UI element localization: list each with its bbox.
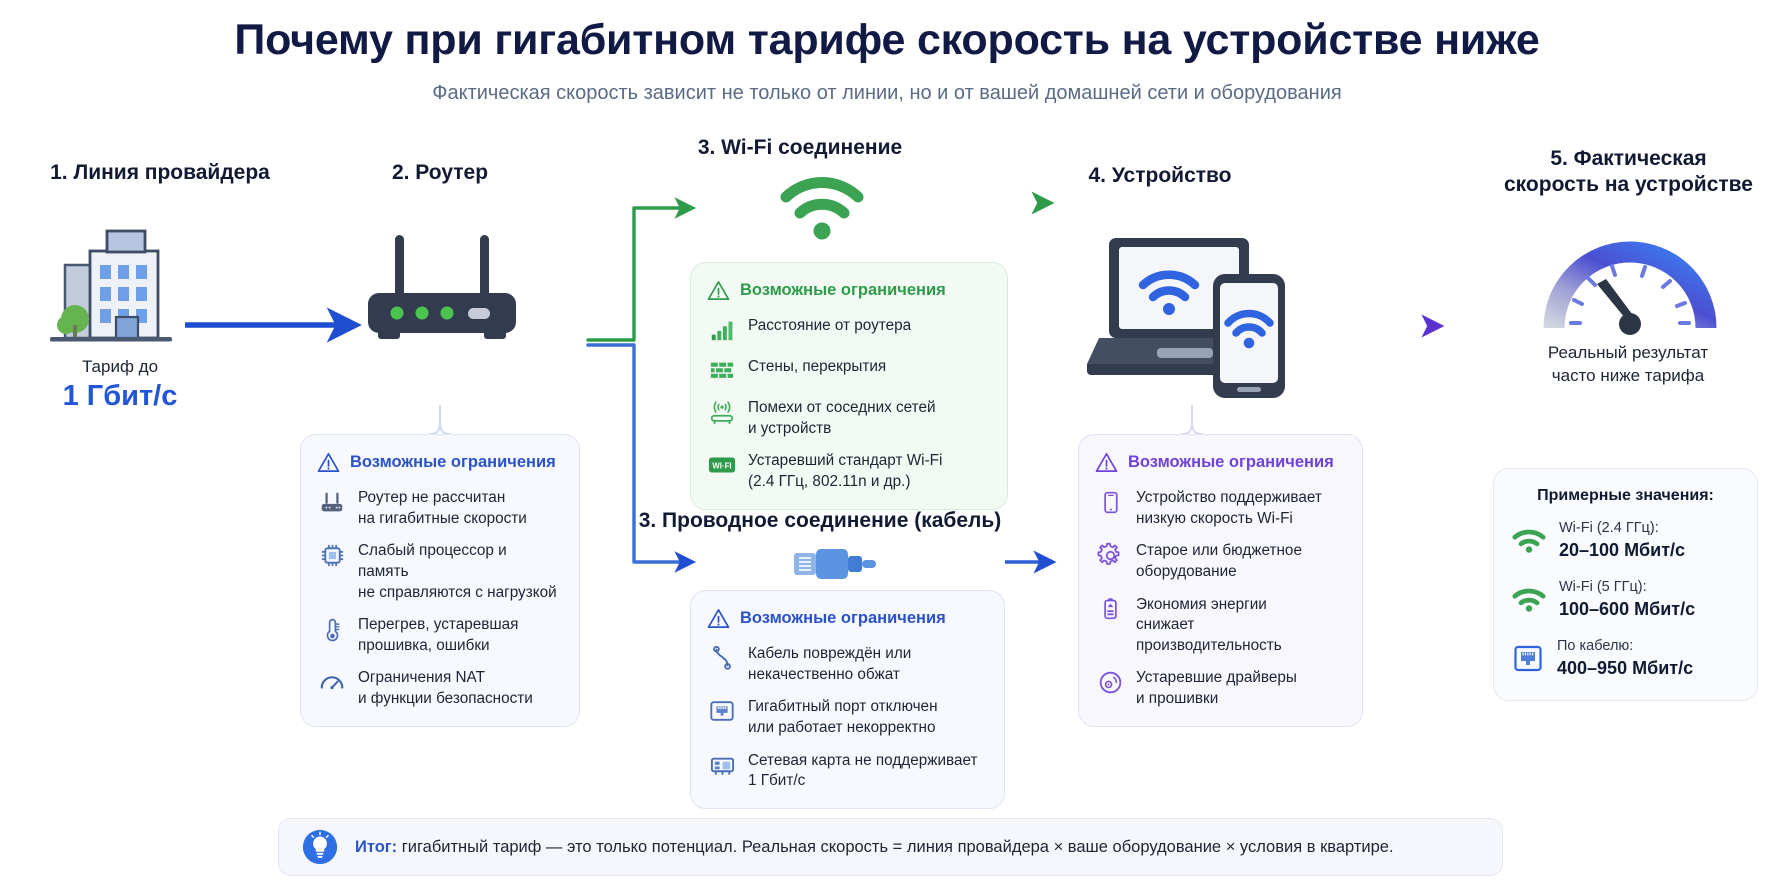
- cable-icon: [707, 643, 737, 673]
- page-title: Почему при гигабитном тарифе скорость на…: [0, 16, 1774, 65]
- card-title-text: Возможные ограничения: [1128, 453, 1334, 472]
- tariff-value: 1 Гбит/с: [20, 380, 220, 413]
- estimate-label: Wi-Fi (2.4 ГГц):: [1559, 520, 1659, 536]
- limitation-item: Расстояние от роутера: [707, 315, 989, 345]
- cable-limitations-card: Возможные ограничения Кабель повреждён и…: [690, 590, 1005, 809]
- limitation-text: Устаревший стандарт Wi-Fi (2.4 ГГц, 802.…: [748, 450, 942, 492]
- tariff-caption: Тариф до: [20, 356, 220, 379]
- network-card-icon: [707, 750, 737, 780]
- limitation-text: Устройство поддерживает низкую скорость …: [1136, 487, 1322, 529]
- limitation-text: Старое или бюджетное оборудование: [1136, 540, 1302, 582]
- warning-triangle-icon: [707, 607, 730, 630]
- card-title-wifi: Возможные ограничения: [707, 279, 989, 302]
- wifi-icon: [1512, 528, 1546, 554]
- limitation-item: Экономия энергии снижает производительно…: [1095, 594, 1344, 657]
- limitation-item: WI·FI Устаревший стандарт Wi-Fi (2.4 ГГц…: [707, 450, 989, 492]
- estimates-card: Примерные значения: Wi-Fi (2.4 ГГц): 20–…: [1493, 468, 1758, 701]
- limitation-item: Слабый процессор и память не справляются…: [317, 540, 561, 603]
- limitation-text: Роутер не рассчитан на гигабитные скорос…: [358, 487, 527, 529]
- device-limitations-card: Возможные ограничения Устройство поддерж…: [1078, 434, 1363, 727]
- summary-body: гигабитный тариф — это только потенциал.…: [397, 838, 1393, 856]
- gear-icon: [1095, 540, 1125, 570]
- limitation-item: Кабель повреждён или некачественно обжат: [707, 643, 986, 685]
- infographic-canvas: Почему при гигабитном тарифе скорость на…: [0, 0, 1774, 887]
- limitation-item: Стены, перекрытия: [707, 356, 989, 386]
- limitation-item: Старое или бюджетное оборудование: [1095, 540, 1344, 582]
- signal-bars-icon: [707, 315, 737, 345]
- limitation-item: Сетевая карта не поддерживает 1 Гбит/с: [707, 750, 986, 792]
- estimate-row: По кабелю: 400–950 Мбит/с: [1512, 637, 1739, 680]
- summary-text: Итог: гигабитный тариф — это только поте…: [355, 838, 1394, 857]
- estimate-value: 100–600 Мбит/с: [1559, 599, 1695, 619]
- estimate-value: 20–100 Мбит/с: [1559, 540, 1685, 560]
- rj45-port-icon: [707, 696, 737, 726]
- wifi-large-icon: [778, 175, 866, 243]
- limitation-text: Сетевая карта не поддерживает 1 Гбит/с: [748, 750, 977, 792]
- limitation-item: Устаревшие драйверы и прошивки: [1095, 667, 1344, 709]
- gauge-icon: [317, 667, 347, 697]
- router-icon: [317, 487, 347, 517]
- card-title-cable: Возможные ограничения: [707, 607, 986, 630]
- wifi-badge-icon: WI·FI: [707, 450, 737, 480]
- warning-triangle-icon: [707, 279, 730, 302]
- limitation-text: Кабель повреждён или некачественно обжат: [748, 643, 911, 685]
- disc-icon: [1095, 667, 1125, 697]
- router-limitations-card: Возможные ограничения Роутер не рассчита…: [300, 434, 580, 727]
- smartphone-icon: [1095, 487, 1125, 517]
- step-heading-actual: 5. Фактическая скорость на устройстве: [1496, 146, 1761, 199]
- speedometer-icon: [1540, 228, 1720, 340]
- estimate-row: Wi-Fi (5 ГГц): 100–600 Мбит/с: [1512, 578, 1739, 621]
- summary-lead: Итог:: [355, 838, 397, 856]
- estimate-row: Wi-Fi (2.4 ГГц): 20–100 Мбит/с: [1512, 519, 1739, 562]
- thermometer-icon: [317, 614, 347, 644]
- limitation-item: Помехи от соседних сетей и устройств: [707, 397, 989, 439]
- wifi-icon: [1512, 587, 1546, 613]
- limitation-text: Стены, перекрытия: [748, 356, 886, 378]
- limitation-item: Перегрев, устаревшая прошивка, ошибки: [317, 614, 561, 656]
- card-title-device: Возможные ограничения: [1095, 451, 1344, 474]
- estimate-label: Wi-Fi (5 ГГц):: [1559, 579, 1647, 595]
- router-device-icon: [352, 225, 532, 345]
- limitation-text: Расстояние от роутера: [748, 315, 911, 337]
- rj45-port-icon: [1512, 644, 1544, 674]
- summary-bar: Итог: гигабитный тариф — это только поте…: [278, 818, 1503, 876]
- laptop-phone-icon: [1095, 230, 1305, 405]
- limitation-text: Гигабитный порт отключен или работает не…: [748, 696, 938, 738]
- limitation-item: Устройство поддерживает низкую скорость …: [1095, 487, 1344, 529]
- limitation-text: Ограничения NAT и функции безопасности: [358, 667, 533, 709]
- limitation-text: Устаревшие драйверы и прошивки: [1136, 667, 1297, 709]
- limitation-text: Помехи от соседних сетей и устройств: [748, 397, 936, 439]
- limitation-item: Гигабитный порт отключен или работает не…: [707, 696, 986, 738]
- cable-plug-icon: [790, 545, 880, 583]
- step-heading-cable: 3. Проводное соединение (кабель): [620, 508, 1020, 534]
- lightbulb-icon: [301, 828, 339, 866]
- limitation-text: Слабый процессор и память не справляются…: [358, 540, 561, 603]
- warning-triangle-icon: [1095, 451, 1118, 474]
- card-title-text: Возможные ограничения: [740, 609, 946, 628]
- interference-icon: [707, 397, 737, 427]
- estimate-value: 400–950 Мбит/с: [1557, 658, 1693, 678]
- limitation-text: Перегрев, устаревшая прошивка, ошибки: [358, 614, 518, 656]
- building-icon: [38, 225, 183, 350]
- step-heading-wifi: 3. Wi-Fi соединение: [610, 135, 990, 161]
- limitation-item: Роутер не рассчитан на гигабитные скорос…: [317, 487, 561, 529]
- cpu-chip-icon: [317, 540, 347, 570]
- estimate-label: По кабелю:: [1557, 638, 1633, 654]
- battery-icon: [1095, 594, 1125, 624]
- brick-wall-icon: [707, 356, 737, 386]
- svg-text:WI·FI: WI·FI: [712, 462, 731, 471]
- actual-caption: Реальный результат часто ниже тарифа: [1488, 342, 1768, 388]
- page-subtitle: Фактическая скорость зависит не только о…: [0, 82, 1774, 105]
- card-title-text: Возможные ограничения: [740, 281, 946, 300]
- limitation-text: Экономия энергии снижает производительно…: [1136, 594, 1344, 657]
- warning-triangle-icon: [317, 451, 340, 474]
- card-title-text: Возможные ограничения: [350, 453, 556, 472]
- wifi-limitations-card: Возможные ограничения Расстояние от роут…: [690, 262, 1008, 510]
- step-heading-device: 4. Устройство: [1030, 163, 1290, 189]
- estimates-title: Примерные значения:: [1512, 487, 1739, 505]
- card-title-router: Возможные ограничения: [317, 451, 561, 474]
- step-heading-router: 2. Роутер: [300, 160, 580, 186]
- limitation-item: Ограничения NAT и функции безопасности: [317, 667, 561, 709]
- step-heading-provider: 1. Линия провайдера: [20, 160, 300, 186]
